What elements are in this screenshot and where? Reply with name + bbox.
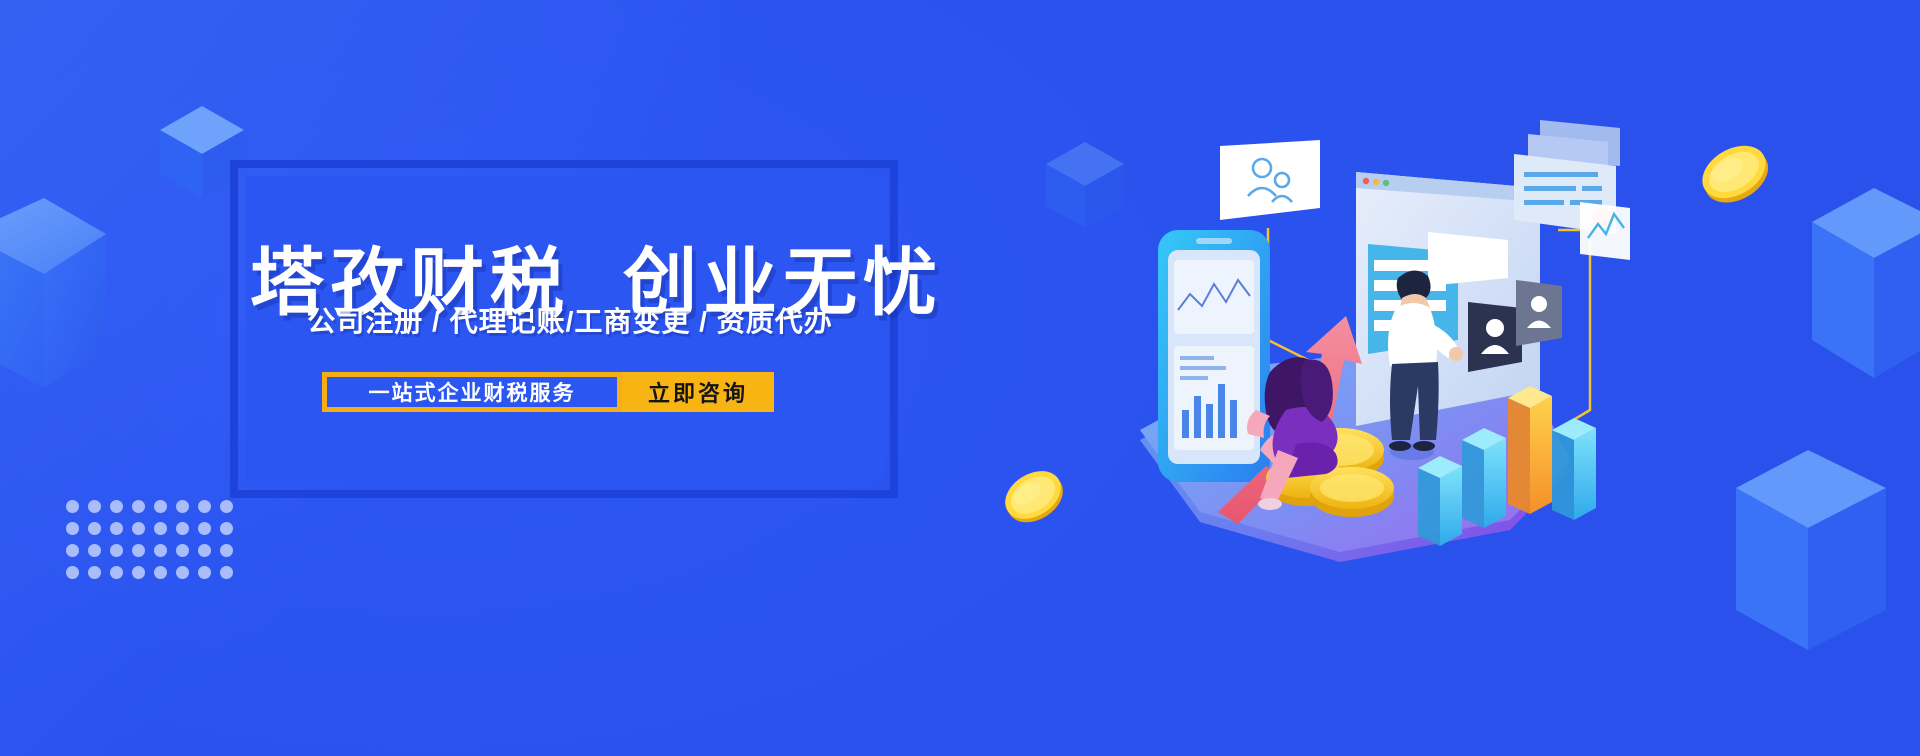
promo-banner: 塔孜财税 创业无忧 公司注册 / 代理记账/工商变更 / 资质代办 一站式企业财… — [0, 0, 1920, 756]
consult-now-button[interactable]: 立即咨询 — [622, 372, 774, 412]
cta-row: 一站式企业财税服务 立即咨询 — [322, 372, 774, 412]
service-list-subtitle: 公司注册 / 代理记账/工商变更 / 资质代办 — [250, 300, 890, 340]
tagline-pill: 一站式企业财税服务 — [322, 372, 622, 412]
